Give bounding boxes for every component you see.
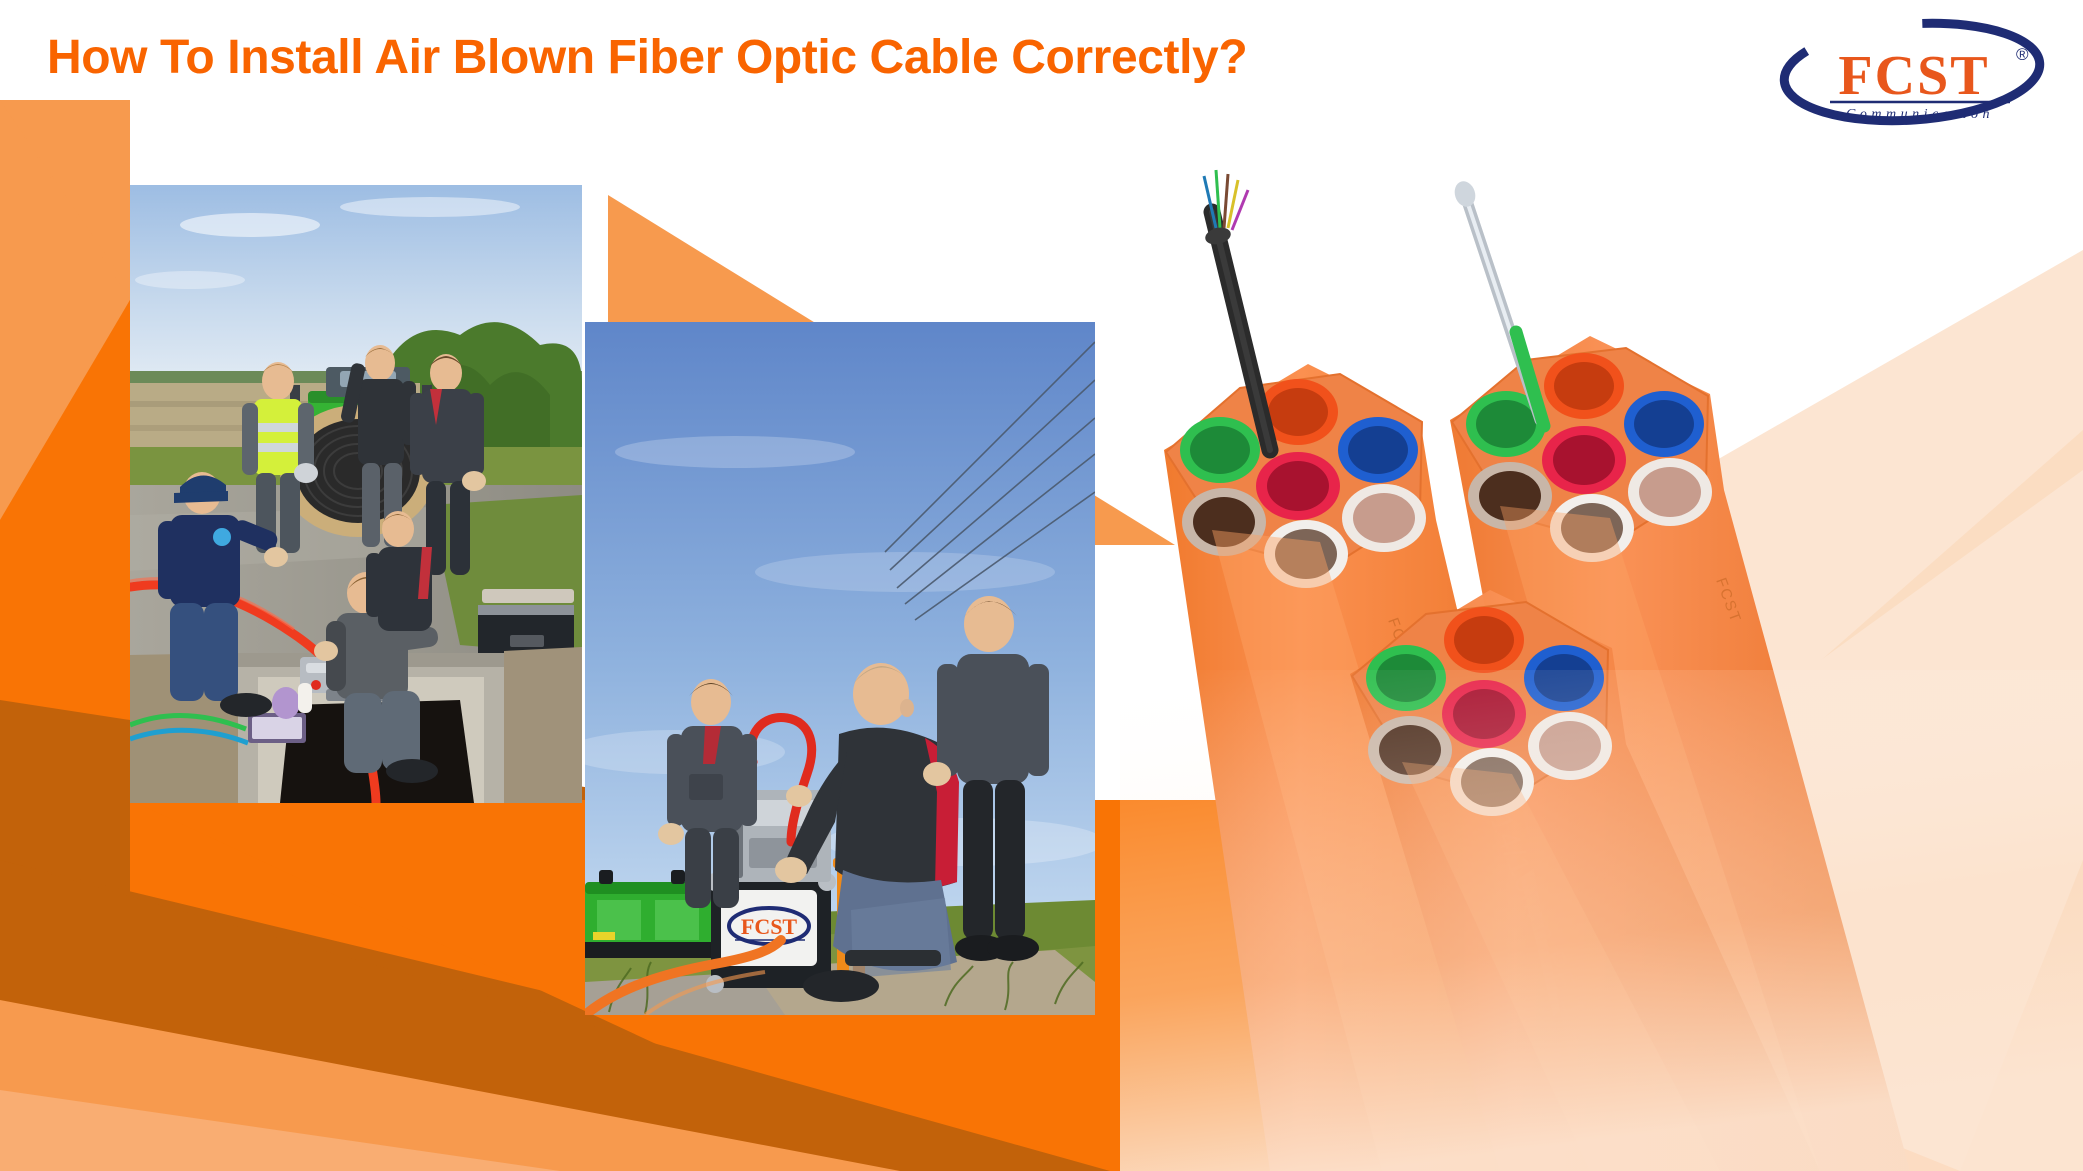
photo-cable-blowing-machine: FCST	[585, 322, 1095, 1015]
poster-canvas: How To Install Air Blown Fiber Optic Cab…	[0, 0, 2083, 1171]
microduct-bundle-illustration: FCST	[1120, 150, 2083, 1171]
photo-field-installation-team: Fiber crew kneeling beside an open concr…	[130, 185, 582, 803]
logo-tagline: Communication	[1846, 107, 1994, 122]
logo-wordmark: FCST	[1838, 45, 1989, 107]
fcst-logo: FCST Communication ® FCST Communication	[1772, 16, 2062, 128]
photo-field-canvas	[130, 185, 582, 803]
page-title: How To Install Air Blown Fiber Optic Cab…	[47, 30, 1247, 85]
photo2-fcst-plate-label: FCST	[741, 914, 798, 939]
photo-machine-canvas: FCST	[585, 322, 1095, 1015]
logo-registered-icon: ®	[2016, 45, 2029, 64]
